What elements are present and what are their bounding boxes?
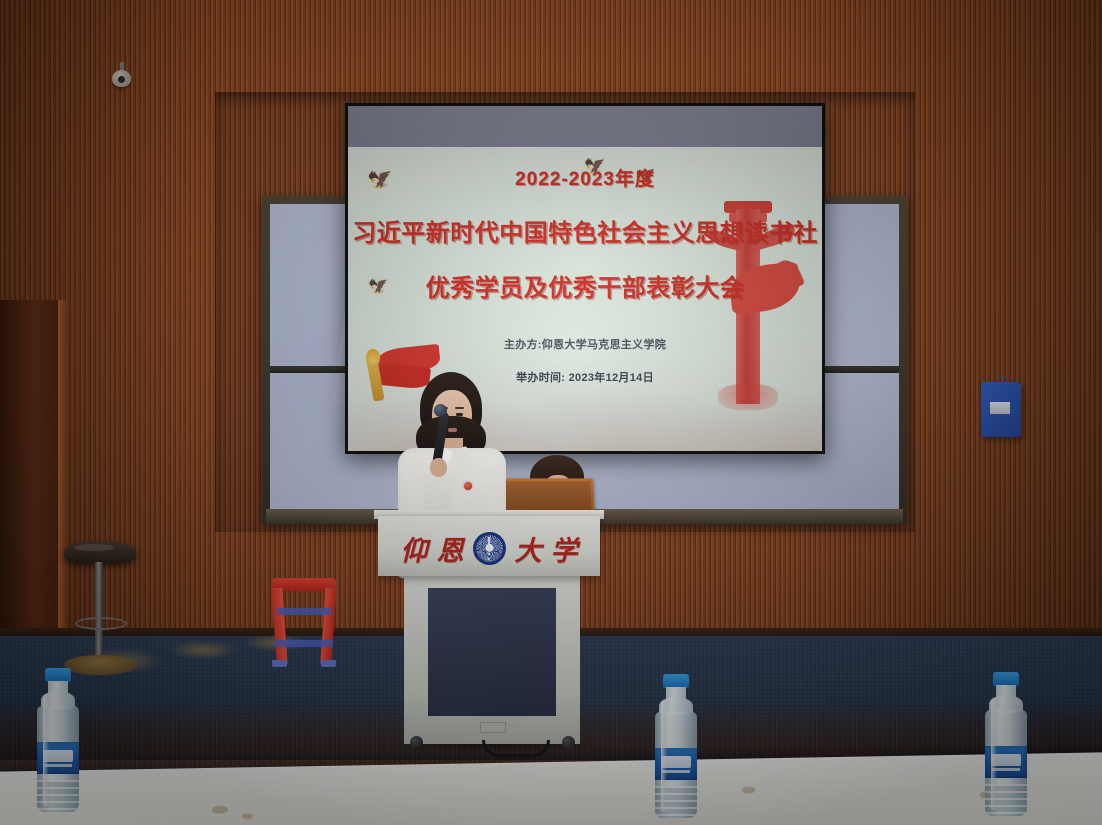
photo-vignette <box>0 0 1102 825</box>
auditorium-photo: 🦅 🦅 🦅 🦅 2022-2023年度 <box>0 0 1102 825</box>
